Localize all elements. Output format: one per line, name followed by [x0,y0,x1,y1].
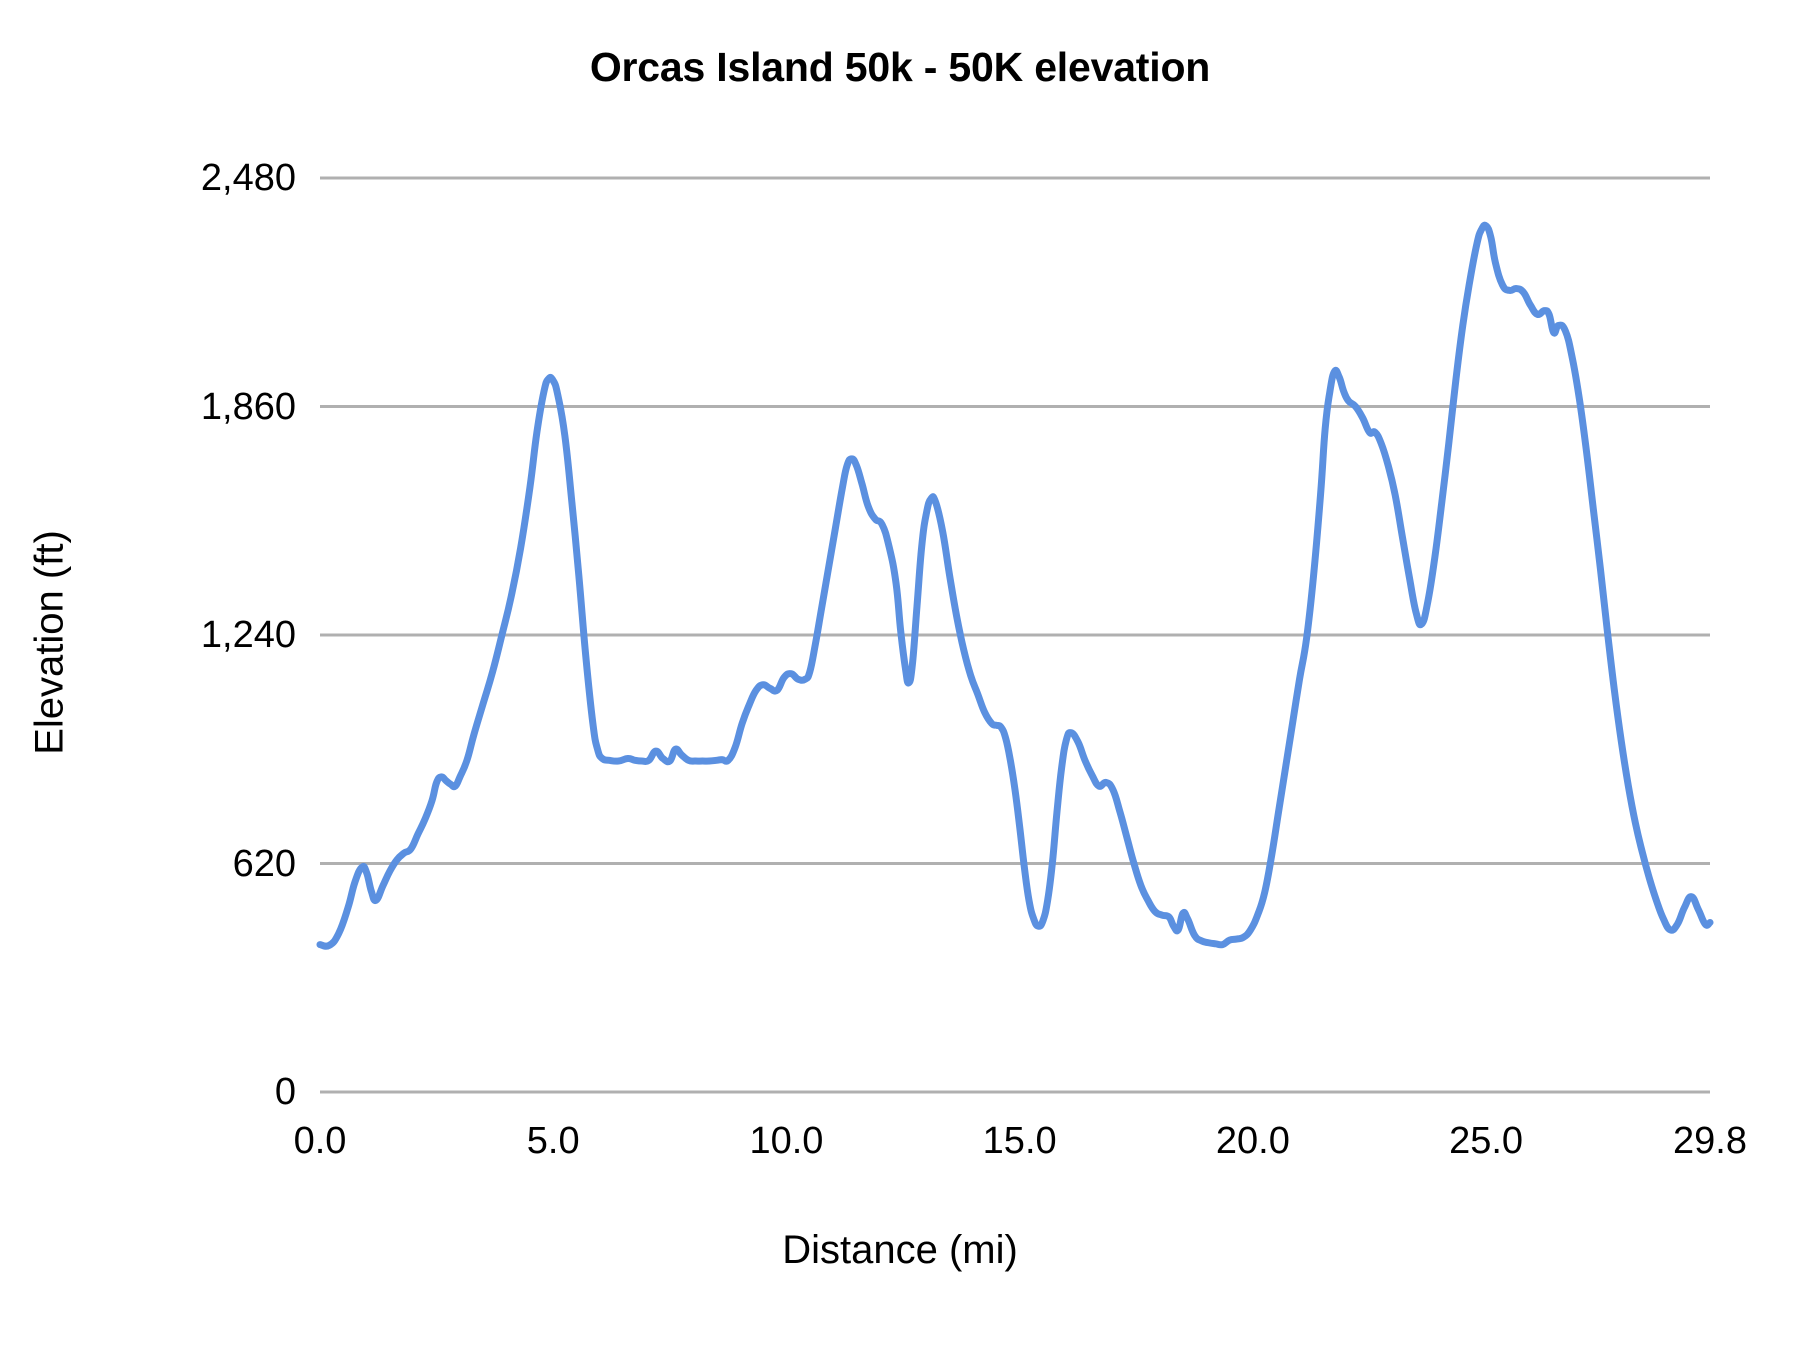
gridlines [320,178,1710,1092]
data-series-group [320,225,1710,946]
y-axis-tick-0: 0 [275,1073,296,1111]
x-axis-tick-5: 5.0 [453,1122,653,1160]
x-axis-tick-20: 20.0 [1153,1122,1353,1160]
x-axis-tick-29-8: 29.8 [1610,1122,1800,1160]
x-axis-title: Distance (mi) [0,1228,1800,1273]
y-axis-tick-1860: 1,860 [201,388,296,426]
x-axis-tick-15: 15.0 [920,1122,1120,1160]
y-axis-tick-2480: 2,480 [201,159,296,197]
chart-container: Orcas Island 50k - 50K elevation 2,4801,… [0,0,1800,1350]
y-axis-title: Elevation (ft) [28,443,73,843]
y-axis-tick-1240: 1,240 [201,616,296,654]
x-axis-tick-25: 25.0 [1386,1122,1586,1160]
elevation-line [320,225,1710,946]
y-axis-tick-620: 620 [233,845,296,883]
x-axis-tick-10: 10.0 [686,1122,886,1160]
x-axis-tick-0: 0.0 [220,1122,420,1160]
